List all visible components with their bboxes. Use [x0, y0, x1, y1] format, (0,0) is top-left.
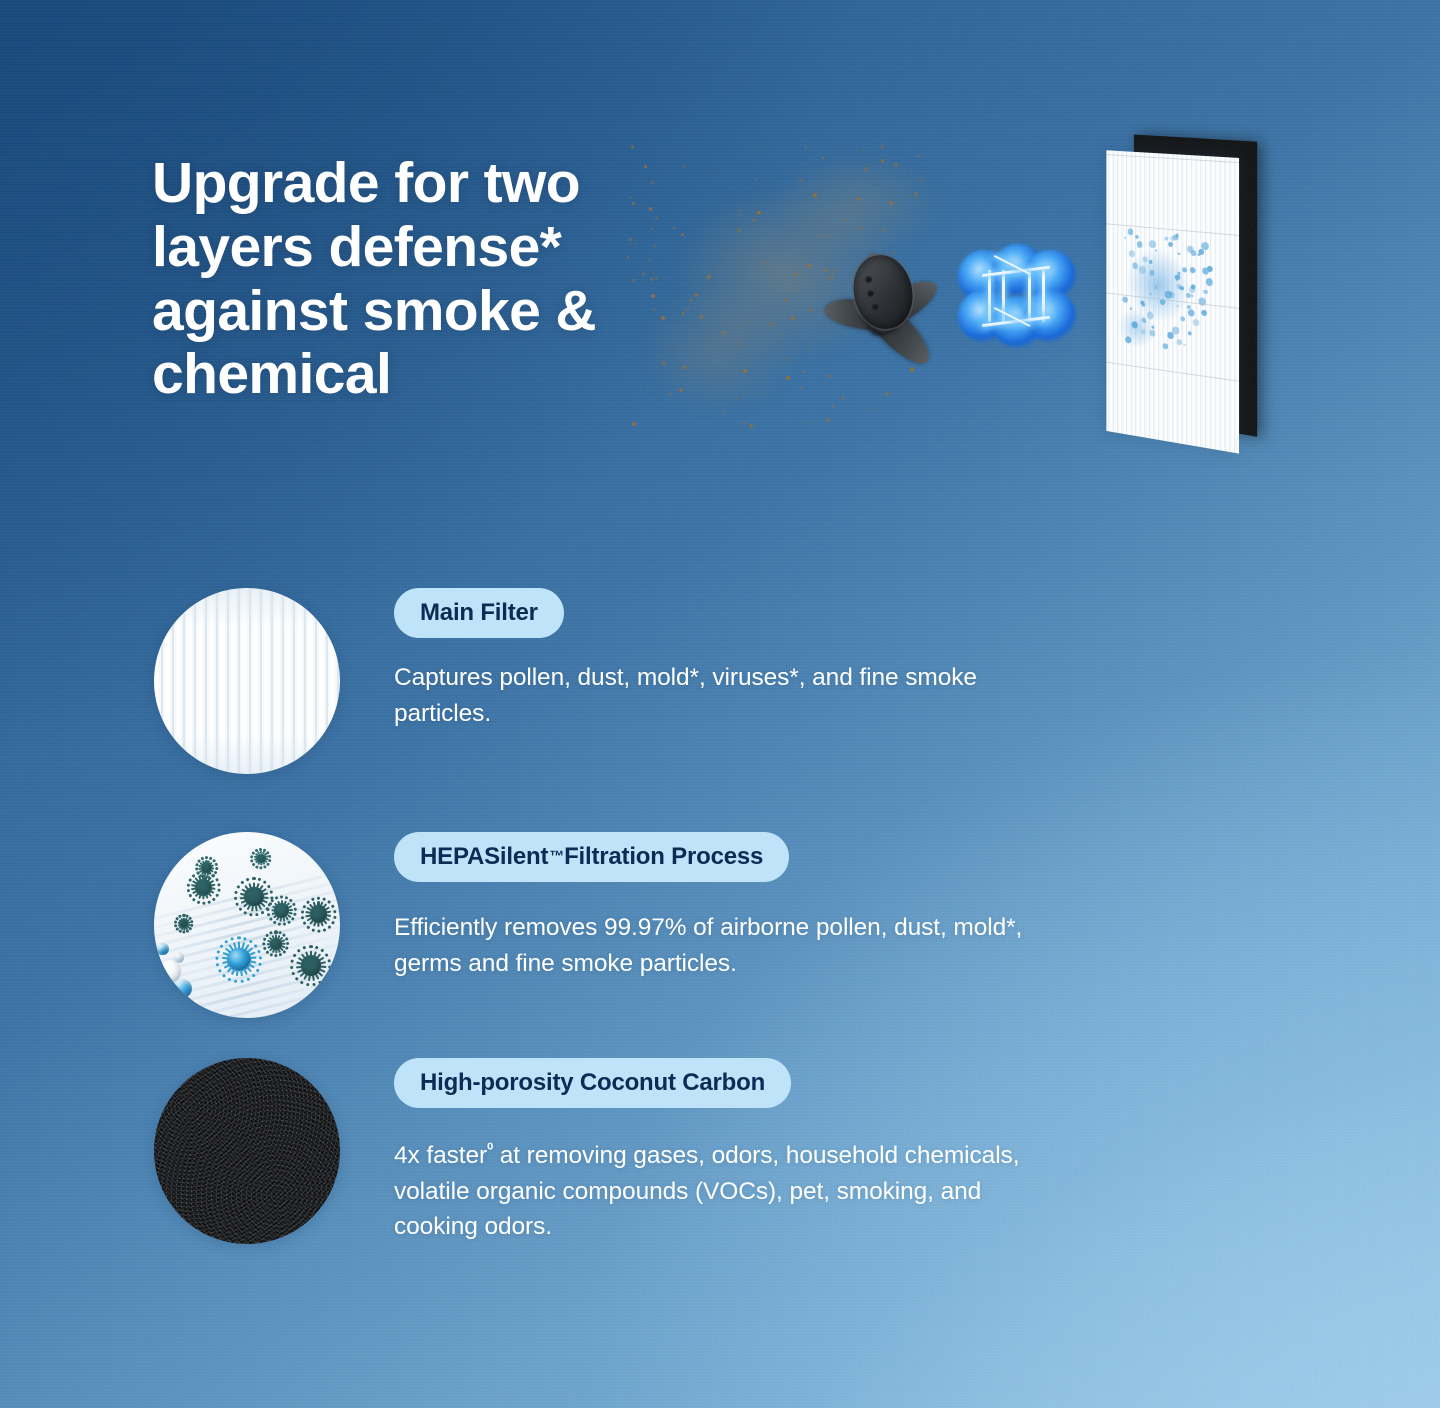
captured-particle	[1169, 292, 1174, 298]
virus-spike-knob	[249, 912, 253, 916]
dust-speck	[632, 279, 635, 282]
virus-spike-knob	[260, 910, 265, 915]
virus-spike-knob	[217, 888, 221, 892]
captured-particle	[1187, 305, 1191, 309]
virus-particle	[301, 955, 322, 976]
captured-particle	[1152, 326, 1155, 329]
ionizer-icon	[958, 250, 1078, 342]
captured-particle	[1177, 284, 1181, 289]
virus-spike	[320, 965, 326, 968]
virus-particle	[310, 905, 328, 923]
captured-particle	[1192, 318, 1199, 326]
virus-spike	[240, 969, 243, 976]
captured-particle	[1176, 304, 1178, 307]
dust-speck	[649, 266, 651, 268]
dust-speck	[686, 308, 689, 311]
captured-particle	[1203, 289, 1208, 294]
virus-spike	[305, 911, 311, 914]
virus-spike-knob	[182, 930, 185, 933]
dust-speck	[786, 358, 790, 362]
badge-main-filter[interactable]: Main Filter	[394, 588, 564, 638]
virus-spike-knob	[191, 897, 196, 902]
dust-speck	[908, 195, 911, 198]
captured-particle	[1131, 321, 1137, 329]
dust-speck	[666, 347, 667, 348]
coconut-carbon-thumbnail	[154, 1058, 340, 1244]
captured-particle	[1168, 241, 1173, 247]
captured-particle	[1180, 286, 1183, 289]
dust-speck	[654, 277, 658, 281]
fan-hub-dot	[871, 302, 879, 310]
virus-spike-knob	[202, 875, 206, 879]
virus-spike-knob	[317, 929, 320, 932]
captured-particle	[1164, 290, 1171, 299]
captured-particle	[1202, 310, 1208, 317]
captured-particle	[1140, 301, 1144, 305]
virus-spike	[275, 950, 277, 954]
virus-spike-knob	[282, 950, 287, 955]
virus-spike-knob	[217, 883, 221, 887]
captured-particle	[1178, 272, 1181, 275]
virus-spike-knob	[217, 949, 221, 953]
virus-spike-knob	[214, 893, 219, 898]
dust-speck	[651, 181, 654, 184]
virus-spike	[239, 896, 245, 899]
badge-coconut-carbon-label: High-porosity Coconut Carbon	[420, 1069, 765, 1097]
dust-speck	[904, 171, 905, 172]
dust-speck	[769, 322, 772, 325]
microbe-capture-thumbnail	[154, 832, 340, 1018]
virus-spike-knob	[259, 866, 262, 869]
virus-spike-knob	[252, 877, 255, 880]
captured-particle	[1160, 299, 1166, 306]
feature-description-coconut-carbon: 4x faster⁰ at removing gases, odors, hou…	[394, 1138, 1044, 1245]
captured-particle	[1149, 260, 1153, 264]
dust-speck	[799, 179, 803, 183]
dust-speck	[864, 167, 868, 171]
captured-particle	[1207, 266, 1213, 273]
dust-speck	[911, 367, 912, 368]
dust-speck	[774, 325, 776, 327]
dust-speck	[755, 178, 757, 180]
captured-particle	[1180, 285, 1185, 290]
dust-speck	[739, 214, 742, 217]
dust-speck	[822, 157, 824, 159]
dust-speck	[922, 171, 924, 173]
dust-speck	[919, 203, 921, 205]
dust-speck	[654, 245, 656, 247]
captured-particle	[1127, 228, 1133, 235]
captured-particle	[1181, 316, 1186, 322]
dust-speck	[651, 294, 655, 298]
dust-speck	[813, 193, 817, 197]
captured-particle	[1142, 303, 1145, 307]
dust-speck	[737, 228, 741, 232]
virus-spike-knob	[282, 922, 286, 926]
virus-spike-knob	[317, 896, 320, 899]
dust-speck	[683, 365, 687, 369]
dust-speck	[841, 147, 844, 150]
virus-spike-knob	[240, 880, 245, 885]
captured-particle	[1143, 256, 1148, 262]
virus-spike-knob	[259, 956, 263, 960]
captured-particle	[1164, 236, 1168, 240]
dust-speck	[655, 217, 658, 220]
dust-speck	[885, 392, 889, 396]
virus-spike-knob	[214, 877, 219, 882]
feature-description-main-filter: Captures pollen, dust, mold*, viruses*, …	[394, 660, 1044, 731]
captured-particle	[1178, 252, 1180, 255]
captured-particle	[1149, 240, 1156, 249]
virus-spike-knob	[303, 946, 307, 950]
virus-spike-knob	[202, 901, 205, 904]
dust-speck	[649, 207, 652, 210]
captured-particle	[1198, 248, 1204, 255]
dust-speck	[819, 234, 820, 235]
particle-sphere	[183, 1000, 205, 1018]
captured-particle	[1206, 278, 1213, 286]
virus-spike-knob	[309, 945, 312, 948]
dust-speck	[868, 409, 870, 411]
virus-spike-knob	[240, 979, 244, 983]
captured-particle	[1172, 326, 1179, 335]
white-pleated-filter-panel	[1106, 150, 1239, 453]
captured-particle	[1124, 236, 1126, 238]
virus-spike-knob	[206, 875, 210, 879]
particle-sphere	[173, 979, 193, 999]
virus-spike-knob	[266, 908, 270, 912]
captured-particle	[1149, 330, 1155, 337]
virus-spike-knob	[332, 909, 336, 913]
virus-spike-knob	[211, 897, 216, 902]
fan-hub-dot	[864, 275, 872, 283]
dust-speck	[749, 424, 753, 428]
captured-particle	[1173, 234, 1178, 240]
virus-spike	[317, 922, 319, 927]
particle-sphere	[155, 988, 172, 1005]
virus-particle	[274, 903, 289, 918]
virus-spike-knob	[311, 927, 315, 931]
dust-speck	[683, 165, 686, 168]
ion-glow	[1024, 290, 1076, 342]
badge-hepasilent-label: HEPASilent	[420, 843, 548, 871]
dust-speck	[665, 278, 666, 279]
virus-spike-knob	[236, 884, 241, 889]
captured-particle	[1184, 343, 1186, 346]
virus-spike-knob	[234, 890, 238, 894]
dust-speck	[681, 233, 684, 236]
captured-particle	[1182, 267, 1187, 273]
captured-particle	[1167, 331, 1174, 339]
virus-spike-knob	[274, 954, 277, 957]
captured-particle	[1187, 245, 1194, 253]
dust-speck	[632, 422, 636, 426]
virus-spike-knob	[196, 900, 200, 904]
captured-particle	[1191, 250, 1197, 257]
captured-particle	[1177, 339, 1182, 345]
fan-impeller-icon	[828, 222, 938, 362]
captured-particle	[1125, 336, 1131, 344]
captured-particle	[1139, 266, 1146, 274]
dust-speck	[844, 219, 847, 222]
dust-speck	[881, 145, 884, 148]
dust-speck	[694, 293, 698, 297]
captured-particle	[1186, 293, 1191, 299]
virus-spike	[250, 905, 253, 911]
dust-speck	[653, 308, 656, 311]
dust-speck	[653, 272, 655, 274]
virus-particle	[195, 879, 212, 896]
dust-speck	[895, 207, 897, 209]
dust-speck	[889, 178, 890, 179]
fan-hub-dot	[866, 289, 874, 297]
captured-particle	[1142, 317, 1146, 322]
virus-spike	[254, 905, 257, 911]
badge-hepasilent-suffix: Filtration Process	[564, 843, 763, 871]
desc-carbon-pre: 4x faster	[394, 1142, 487, 1169]
virus-spike-knob	[231, 936, 235, 940]
captured-particle	[1169, 292, 1172, 296]
dust-speck	[629, 196, 632, 199]
virus-spike	[222, 957, 229, 960]
dust-speck	[682, 312, 684, 314]
captured-particle	[1136, 241, 1142, 248]
captured-particle	[1176, 279, 1178, 282]
virus-spike-knob	[269, 953, 273, 957]
virus-spike	[202, 895, 204, 900]
dust-speck	[631, 145, 634, 148]
captured-particle	[1123, 297, 1128, 303]
virus-spike-knob	[322, 927, 326, 931]
dust-speck	[629, 244, 630, 245]
virus-spike-knob	[205, 856, 208, 859]
dust-speck	[750, 320, 753, 323]
captured-particle	[1199, 297, 1207, 306]
captured-particle	[1202, 242, 1209, 250]
virus-spike-knob	[277, 922, 281, 926]
ion-rod	[1028, 270, 1031, 322]
dust-speck	[644, 165, 647, 168]
hero-illustration	[600, 110, 1400, 490]
virus-spike-knob	[186, 888, 190, 892]
virus-spike-knob	[206, 900, 210, 904]
captured-particle	[1188, 331, 1192, 336]
dust-speck	[632, 202, 635, 205]
captured-particle	[1129, 249, 1136, 257]
virus-spike	[235, 969, 238, 976]
dust-speck	[919, 177, 923, 181]
badge-main-filter-label: Main Filter	[420, 599, 538, 627]
captured-particle	[1202, 267, 1209, 275]
captured-particle	[1190, 267, 1196, 274]
virus-spike-knob	[330, 920, 335, 925]
virus-spike-knob	[332, 915, 336, 919]
dust-speck	[793, 288, 795, 290]
virus-spike	[253, 882, 255, 888]
captured-particle	[1141, 329, 1145, 334]
captured-particle	[1144, 320, 1147, 323]
captured-particle	[1135, 235, 1139, 239]
captured-particle	[1189, 286, 1196, 294]
captured-particle	[1154, 286, 1157, 290]
dust-speck	[629, 238, 632, 241]
virus-spike	[262, 896, 268, 899]
captured-particle	[1191, 294, 1194, 297]
virus-spike-knob	[269, 890, 273, 894]
dust-speck	[736, 398, 738, 400]
virus-spike-knob	[301, 909, 305, 913]
dust-speck	[673, 227, 675, 229]
feature-description-hepasilent: Efficiently removes 99.97% of airborne p…	[394, 910, 1044, 981]
dust-speck	[799, 258, 801, 260]
virus-spike-knob	[255, 912, 259, 916]
badge-coconut-carbon[interactable]: High-porosity Coconut Carbon	[394, 1058, 791, 1108]
captured-particle	[1170, 235, 1175, 241]
ion-rod	[1042, 270, 1045, 322]
captured-particle	[1188, 309, 1194, 316]
captured-particle	[1155, 249, 1157, 251]
virus-spike	[311, 974, 314, 980]
captured-particle	[1147, 311, 1154, 320]
virus-spike	[249, 957, 256, 960]
virus-spike-knob	[237, 936, 240, 939]
virus-particle	[179, 919, 188, 928]
virus-spike-knob	[258, 877, 262, 881]
captured-particle	[1129, 307, 1132, 311]
captured-particle	[1176, 234, 1179, 238]
virus-spike	[266, 943, 270, 945]
dust-speck	[669, 393, 671, 395]
virus-spike-knob	[246, 877, 250, 881]
pleated-filter-thumbnail	[154, 588, 340, 774]
virus-spike-knob	[293, 912, 297, 916]
particle-sphere	[156, 943, 169, 956]
dust-speck	[862, 149, 864, 151]
ion-rod	[988, 270, 991, 322]
virus-spike	[296, 965, 302, 968]
virus-spike-knob	[263, 880, 268, 885]
dust-speck	[650, 278, 653, 281]
captured-particle	[1191, 284, 1196, 290]
virus-particle	[201, 862, 212, 873]
captured-particle	[1162, 343, 1168, 350]
virus-spike-knob	[280, 896, 283, 899]
dust-speck	[827, 374, 831, 378]
dust-speck	[917, 155, 920, 158]
dust-speck	[914, 192, 918, 196]
dust-speck	[743, 422, 745, 424]
dust-speck	[826, 418, 830, 422]
captured-particle	[1132, 262, 1138, 269]
particle-sphere	[174, 952, 185, 963]
captured-particle	[1198, 253, 1200, 255]
virus-spike-knob	[286, 942, 289, 945]
virus-particle	[270, 938, 283, 951]
captured-particle	[1149, 292, 1152, 295]
captured-particle	[1175, 274, 1180, 280]
virus-particle	[227, 948, 250, 971]
virus-spike-knob	[186, 883, 190, 887]
virus-spike	[262, 892, 268, 896]
virus-particle	[244, 887, 264, 907]
virus-particle	[256, 854, 266, 864]
captured-particle	[1149, 270, 1154, 276]
badge-hepasilent[interactable]: HEPASilent™ Filtration Process	[394, 832, 789, 882]
dust-speck	[642, 272, 646, 276]
